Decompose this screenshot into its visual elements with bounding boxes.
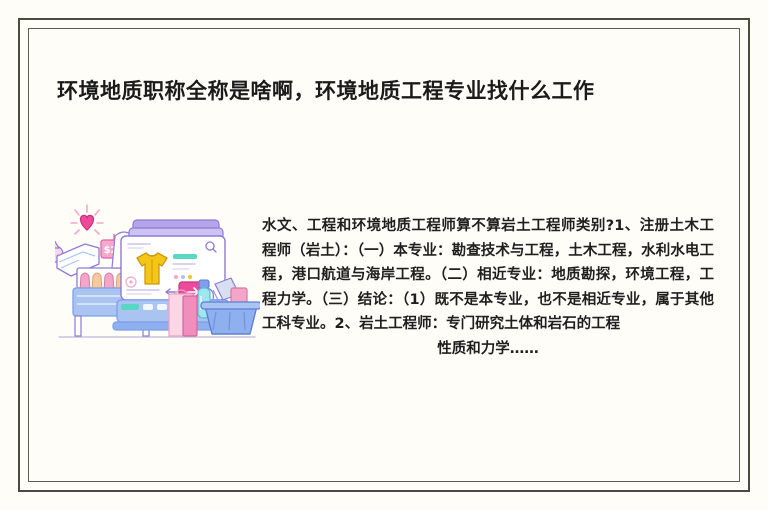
article-card: 环境地质职称全称是啥啊，环境地质工程专业找什么工作: [0, 0, 768, 510]
page-title: 环境地质职称全称是啥啊，环境地质工程专业找什么工作: [57, 78, 717, 105]
online-shopping-illustration: $20: [55, 196, 260, 356]
article-body: 水文、工程和环境地质工程师算不算岩土工程师类别?1、注册土木工程师（岩土）：（一…: [262, 214, 714, 361]
article-body-tail: 性质和力学……: [262, 337, 714, 362]
article-body-main: 水文、工程和环境地质工程师算不算岩土工程师类别?1、注册土木工程师（岩土）：（一…: [262, 218, 714, 332]
shopping-bags: [169, 290, 197, 336]
heart-icon: [71, 205, 103, 234]
